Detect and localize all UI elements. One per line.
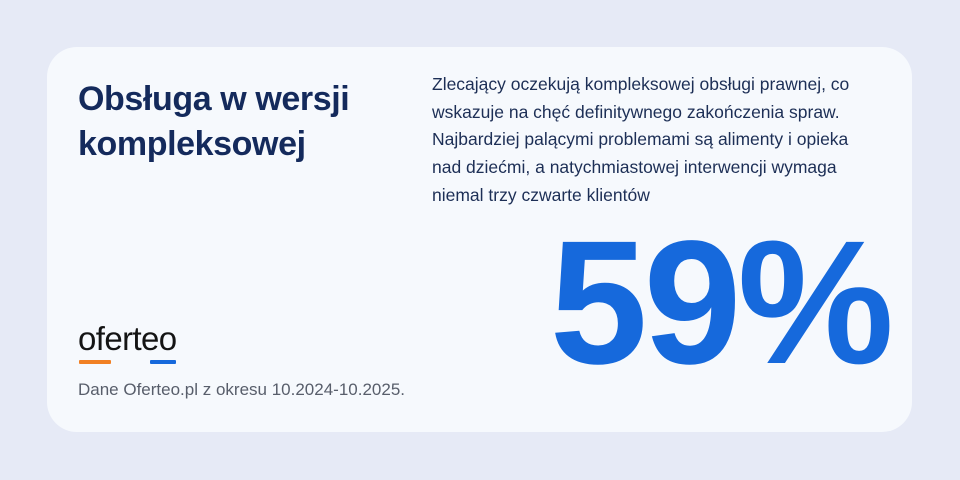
data-source-caption: Dane Oferteo.pl z okresu 10.2024-10.2025… bbox=[78, 378, 405, 402]
logo-blue-rule bbox=[150, 360, 176, 364]
logo-wordmark-wrap: oferteo bbox=[78, 322, 177, 364]
logo-wordmark-text: oferteo bbox=[78, 320, 177, 357]
logo-orange-rule bbox=[79, 360, 111, 364]
stat-card: Obsługa w wersji kompleksowej Zlecający … bbox=[47, 47, 912, 432]
stat-value: 59% bbox=[550, 215, 890, 391]
infographic-stage: Obsługa w wersji kompleksowej Zlecający … bbox=[0, 0, 960, 480]
oferteo-logo: oferteo bbox=[78, 322, 177, 362]
page-title: Obsługa w wersji kompleksowej bbox=[78, 77, 408, 167]
description-paragraph: Zlecający oczekują kompleksowej obsługi … bbox=[432, 71, 880, 209]
